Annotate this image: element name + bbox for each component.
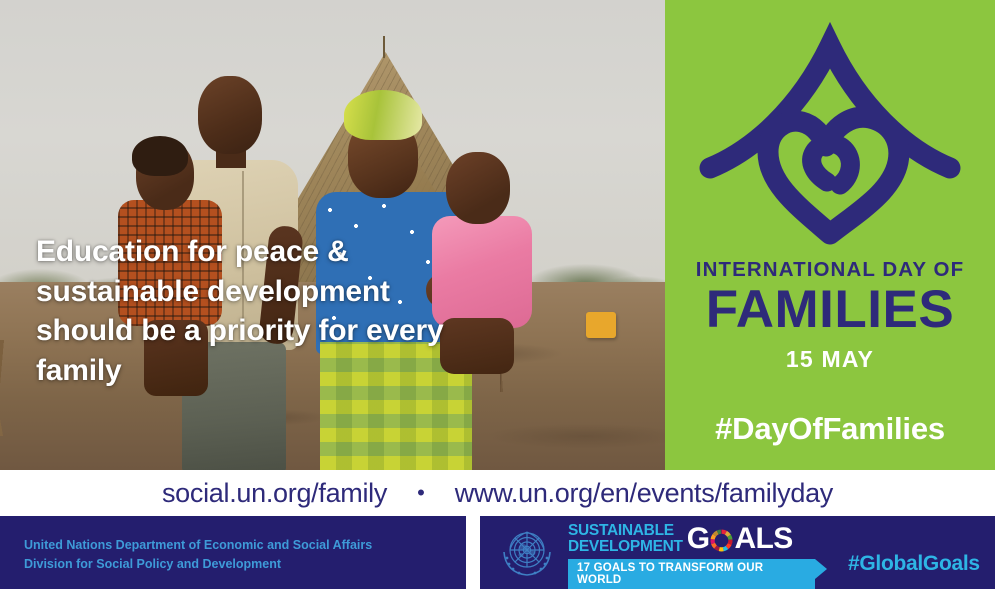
sdg-goals-g: G [687, 524, 710, 554]
desa-text: United Nations Department of Economic an… [24, 536, 372, 574]
child-hair [132, 136, 188, 176]
sdg-word-goals: G [687, 524, 793, 554]
sdg-word-development: DEVELOPMENT [568, 539, 683, 555]
logo-date: 15 MAY [665, 346, 995, 373]
sdg-color-wheel-icon [710, 528, 733, 551]
logo-line-families: FAMILIES [665, 283, 995, 337]
global-goals-hashtag: #GlobalGoals [848, 552, 980, 576]
logo-title-block: INTERNATIONAL DAY OF FAMILIES 15 MAY [665, 258, 995, 373]
url-un-org-familyday[interactable]: www.un.org/en/events/familyday [455, 478, 833, 509]
sdg-sustainable-development: SUSTAINABLE DEVELOPMENT [568, 523, 683, 555]
house-roof-heart-spiral-logo [696, 22, 964, 248]
sdg-tagline-banner: 17 GOALS TO TRANSFORM OUR WORLD [568, 559, 815, 589]
photo-hut-spire [383, 36, 385, 58]
headline-line-1: Education for peace & [36, 232, 506, 272]
headline-line-2: sustainable development [36, 272, 506, 312]
headline-line-3: should be a priority for every [36, 311, 506, 351]
sdg-logo: SUSTAINABLE DEVELOPMENT G [568, 523, 838, 589]
united-nations-emblem [496, 522, 558, 584]
headline-text: Education for peace & sustainable develo… [36, 232, 506, 390]
logo-line-international-day-of: INTERNATIONAL DAY OF [665, 258, 995, 282]
sdg-wordmark: SUSTAINABLE DEVELOPMENT G [568, 523, 838, 555]
day-of-families-hashtag: #DayOfFamilies [665, 411, 995, 447]
footer-sdg-block: SUSTAINABLE DEVELOPMENT G [480, 516, 995, 589]
sdg-goals-als: ALS [734, 524, 792, 554]
mother-headwrap [344, 90, 422, 140]
footer-desa-block: United Nations Department of Economic an… [0, 516, 466, 589]
url-social-un-org[interactable]: social.un.org/family [162, 478, 387, 509]
photo-yellow-jerrycan [586, 312, 616, 338]
headline-line-4: family [36, 351, 506, 391]
desa-line-2: Division for Social Policy and Developme… [24, 555, 372, 574]
desa-line-1: United Nations Department of Economic an… [24, 536, 372, 555]
logo-panel: INTERNATIONAL DAY OF FAMILIES 15 MAY #Da… [665, 0, 995, 470]
baby-head [446, 152, 510, 224]
url-bar: social.un.org/family • www.un.org/en/eve… [0, 470, 995, 516]
url-separator-dot: • [417, 482, 425, 504]
sdg-word-sustainable: SUSTAINABLE [568, 523, 683, 539]
poster-root: Education for peace & sustainable develo… [0, 0, 995, 589]
